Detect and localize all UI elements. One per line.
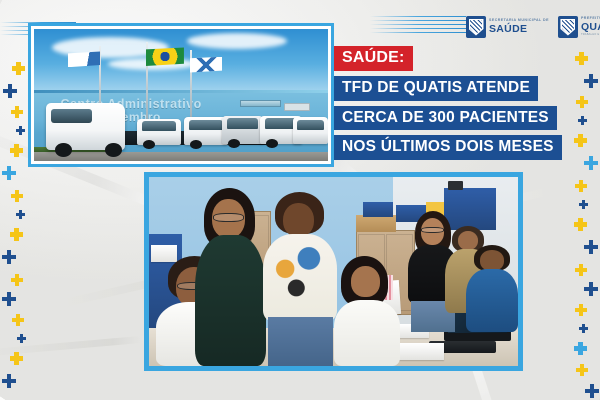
cross-decoration bbox=[2, 292, 16, 306]
cross-decoration bbox=[584, 156, 598, 170]
eyeglasses bbox=[213, 213, 244, 222]
cross-decoration bbox=[574, 342, 587, 355]
photo-centro-administrativo: Centro Administrativo 25 de Novembro bbox=[34, 29, 328, 161]
cross-decoration bbox=[575, 52, 588, 65]
prefeitura-de-quatis-logo: PREFEITURA DE QUATIS TRABALHO E COMPROMI… bbox=[558, 16, 600, 38]
van-wheel bbox=[55, 143, 73, 158]
status-badge-saude: SAÚDE: bbox=[334, 46, 413, 71]
logo-overline: PREFEITURA DE bbox=[581, 17, 600, 21]
flag-quatis bbox=[68, 51, 100, 67]
van-wheel bbox=[105, 143, 123, 158]
cross-decoration bbox=[575, 264, 587, 276]
logo-title: QUATIS bbox=[581, 22, 600, 33]
headline-block: SAÚDE: TFD DE QUATIS ATENDE CERCA DE 300… bbox=[334, 46, 562, 165]
headline-row-2: CERCA DE 300 PACIENTES bbox=[334, 106, 562, 131]
cross-decoration bbox=[579, 200, 588, 209]
brasao-quatis-icon bbox=[558, 16, 578, 38]
cross-decoration bbox=[16, 210, 25, 219]
cross-decoration bbox=[11, 274, 23, 286]
blue-storage-box bbox=[363, 202, 393, 217]
photo-frame-team bbox=[144, 172, 523, 371]
car-wheel bbox=[143, 140, 155, 149]
cross-decoration bbox=[11, 190, 23, 202]
flag-rio-de-janeiro-cross bbox=[190, 57, 222, 73]
poster: Centro Administrativo 25 de Novembro bbox=[0, 0, 600, 400]
cross-decoration bbox=[10, 352, 23, 365]
parking-ground bbox=[34, 152, 328, 161]
headline-line-3: NOS ÚLTIMOS DOIS MESES bbox=[334, 135, 562, 160]
logo-underline: TRABALHO E COMPROMISSO COM VOCÊ bbox=[581, 34, 600, 37]
brasao-quatis-icon bbox=[466, 16, 486, 38]
face bbox=[283, 203, 314, 238]
cardboard-box bbox=[356, 215, 397, 232]
cross-decoration bbox=[11, 106, 23, 118]
air-conditioner bbox=[284, 103, 310, 112]
cross-decoration bbox=[12, 62, 25, 75]
person-3 bbox=[263, 192, 337, 366]
photo-equipe-tfd bbox=[149, 177, 518, 366]
car-windshield bbox=[297, 120, 324, 130]
logo-bar: SECRETARIA MUNICIPAL DE SAÚDE PREFEITURA… bbox=[466, 16, 600, 38]
person-4 bbox=[334, 256, 400, 366]
car-wheel bbox=[228, 139, 240, 148]
headline-category-row: SAÚDE: bbox=[334, 46, 562, 71]
cross-decoration bbox=[576, 364, 588, 376]
cross-decoration bbox=[2, 250, 16, 264]
cross-decoration bbox=[579, 324, 588, 333]
cross-decoration bbox=[584, 282, 598, 296]
logo-text: PREFEITURA DE QUATIS TRABALHO E COMPROMI… bbox=[581, 17, 600, 37]
torso bbox=[195, 235, 266, 366]
logo-title: SAÚDE bbox=[489, 24, 549, 35]
desk-papers bbox=[393, 343, 445, 360]
photo-frame-building: Centro Administrativo 25 de Novembro bbox=[28, 23, 334, 167]
car-wheel bbox=[190, 140, 202, 149]
cross-decoration bbox=[575, 304, 587, 316]
cross-decoration bbox=[2, 374, 16, 388]
cross-decoration bbox=[574, 218, 587, 231]
flag-brasil bbox=[146, 47, 184, 65]
cross-decoration bbox=[10, 228, 23, 241]
building-roofline bbox=[34, 90, 328, 93]
wall-speaker bbox=[448, 181, 463, 190]
cross-decoration bbox=[574, 134, 587, 147]
eyeglasses bbox=[421, 227, 444, 233]
vehicle-car bbox=[293, 117, 328, 143]
car-windshield bbox=[142, 121, 176, 131]
headline-row-1: TFD DE QUATIS ATENDE bbox=[334, 76, 562, 101]
cross-decoration bbox=[578, 116, 587, 125]
person-2 bbox=[193, 188, 267, 366]
cross-decoration bbox=[10, 144, 23, 157]
car-windshield bbox=[227, 118, 258, 129]
jeans bbox=[268, 317, 333, 366]
headline-line-2: CERCA DE 300 PACIENTES bbox=[334, 106, 557, 131]
headline-line-1: TFD DE QUATIS ATENDE bbox=[334, 76, 538, 101]
cross-decoration bbox=[575, 180, 587, 192]
car-wheel bbox=[266, 139, 278, 148]
cross-decoration bbox=[12, 314, 24, 326]
car-windshield bbox=[265, 118, 296, 129]
cross-decoration bbox=[17, 334, 26, 343]
cross-decoration bbox=[16, 126, 25, 135]
cross-decoration bbox=[3, 84, 17, 98]
van-windshield bbox=[51, 109, 92, 123]
logo-text: SECRETARIA MUNICIPAL DE SAÚDE bbox=[489, 19, 549, 35]
face bbox=[351, 266, 380, 297]
cross-decoration bbox=[584, 74, 598, 88]
cross-decoration bbox=[584, 240, 598, 254]
headline-row-3: NOS ÚLTIMOS DOIS MESES bbox=[334, 135, 562, 160]
window bbox=[240, 100, 281, 107]
torso bbox=[334, 300, 400, 366]
torso bbox=[466, 269, 518, 332]
cloud bbox=[187, 33, 287, 49]
torso bbox=[263, 234, 337, 321]
car-windshield bbox=[189, 120, 223, 131]
cross-decoration bbox=[2, 166, 16, 180]
secretaria-municipal-de-saude-logo: SECRETARIA MUNICIPAL DE SAÚDE bbox=[466, 16, 549, 38]
face bbox=[480, 250, 504, 271]
cross-decoration bbox=[576, 96, 588, 108]
cross-decoration bbox=[585, 384, 599, 398]
person-7 bbox=[466, 245, 518, 332]
